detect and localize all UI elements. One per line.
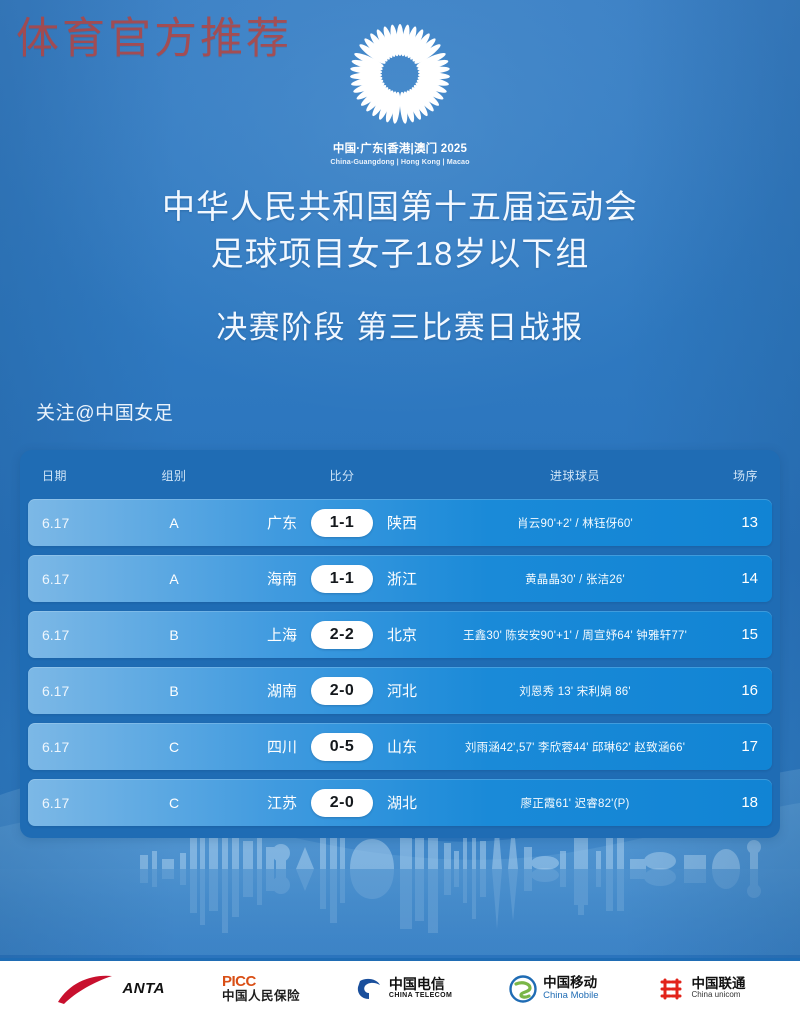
home-team: 江苏 <box>245 792 297 813</box>
away-team: 浙江 <box>387 568 439 589</box>
cell-order: 15 <box>688 626 758 643</box>
sponsor-china-unicom: 中国联通 China unicom <box>656 975 746 1003</box>
score-pill: 1-1 <box>311 565 373 593</box>
cell-group: A <box>126 515 222 531</box>
home-team: 广东 <box>245 512 297 533</box>
column-header-group: 组别 <box>126 467 222 484</box>
cell-date: 6.17 <box>42 627 126 643</box>
table-row: 6.17A广东1-1陕西肖云90'+2' / 林钰伢60'13 <box>28 499 772 546</box>
cell-scorers: 王鑫30' 陈安安90'+1' / 周宣妤64' 钟雅轩77' <box>462 627 688 643</box>
away-team: 山东 <box>387 736 439 757</box>
sponsor-telecom-sub: CHINA TELECOM <box>389 992 452 1000</box>
column-header-scorers: 进球球员 <box>462 467 688 484</box>
away-team: 陕西 <box>387 512 439 533</box>
away-team: 河北 <box>387 680 439 701</box>
home-team: 四川 <box>245 736 297 757</box>
cell-scorers: 刘恩秀 13' 宋利娟 86' <box>462 683 688 699</box>
score-pill: 0-5 <box>311 733 373 761</box>
score-pill: 2-0 <box>311 789 373 817</box>
cell-score: 广东1-1陕西 <box>222 509 462 537</box>
sponsor-telecom-label: 中国电信 <box>389 977 452 992</box>
cell-date: 6.17 <box>42 571 126 587</box>
event-logo: 中国·广东|香港|澳门 2025 China-Guangdong | Hong … <box>0 22 800 166</box>
cell-score: 江苏2-0湖北 <box>222 789 462 817</box>
cell-score: 海南1-1浙江 <box>222 565 462 593</box>
logo-title-en: China-Guangdong | Hong Kong | Macao <box>330 157 469 166</box>
home-team: 湖南 <box>245 680 297 701</box>
cell-group: B <box>126 627 222 643</box>
table-row: 6.17B湖南2-0河北刘恩秀 13' 宋利娟 86'16 <box>28 667 772 714</box>
cell-scorers: 黄晶晶30' / 张洁26' <box>462 571 688 587</box>
cell-score: 四川0-5山东 <box>222 733 462 761</box>
title-subtitle: 决赛阶段 第三比赛日战报 <box>0 302 800 347</box>
cell-group: A <box>126 571 222 587</box>
cell-order: 17 <box>688 738 758 755</box>
title-line-2: 足球项目女子18岁以下组 <box>0 231 800 278</box>
home-team: 上海 <box>245 624 297 645</box>
cell-date: 6.17 <box>42 515 126 531</box>
column-header-date: 日期 <box>42 467 126 484</box>
cell-order: 18 <box>688 794 758 811</box>
table-body: 6.17A广东1-1陕西肖云90'+2' / 林钰伢60'136.17A海南1-… <box>28 499 772 826</box>
score-pill: 2-0 <box>311 677 373 705</box>
sponsor-anta: ANTA <box>54 972 165 1006</box>
cell-group: B <box>126 683 222 699</box>
follow-handle: 关注@中国女足 <box>36 398 174 425</box>
sponsor-footer: ANTA PICC 中国人民保险 中国电信 CHINA TELECOM 中国移动… <box>0 958 800 1016</box>
sponsor-china-mobile: 中国移动 China Mobile <box>509 975 598 1003</box>
sponsor-china-telecom: 中国电信 CHINA TELECOM <box>357 975 452 1003</box>
china-telecom-icon <box>357 975 383 1003</box>
cell-order: 16 <box>688 682 758 699</box>
away-team: 湖北 <box>387 792 439 813</box>
away-team: 北京 <box>387 624 439 645</box>
sponsor-picc-label: 中国人民保险 <box>222 990 300 1004</box>
cell-order: 13 <box>688 514 758 531</box>
table-header-row: 日期 组别 比分 进球球员 场序 <box>28 460 772 490</box>
title-line-1: 中华人民共和国第十五届运动会 <box>0 184 800 231</box>
cell-score: 湖南2-0河北 <box>222 677 462 705</box>
china-mobile-icon <box>509 975 537 1003</box>
table-row: 6.17C四川0-5山东刘雨涵42',57' 李欣蓉44' 邱琳62' 赵致涵6… <box>28 723 772 770</box>
cell-scorers: 廖正霞61' 迟睿82'(P) <box>462 795 688 811</box>
table-row: 6.17C江苏2-0湖北廖正霞61' 迟睿82'(P)18 <box>28 779 772 826</box>
sponsor-mobile-sub: China Mobile <box>543 991 598 1001</box>
anta-swoosh-icon <box>54 972 116 1006</box>
sponsor-picc: PICC 中国人民保险 <box>222 974 300 1004</box>
sponsor-unicom-label: 中国联通 <box>692 977 746 992</box>
sponsor-anta-label: ANTA <box>122 980 165 997</box>
sponsor-mobile-label: 中国移动 <box>543 976 598 991</box>
table-row: 6.17A海南1-1浙江黄晶晶30' / 张洁26'14 <box>28 555 772 602</box>
games-burst-emblem-icon <box>336 22 464 134</box>
logo-title-cn: 中国·广东|香港|澳门 2025 <box>333 140 467 156</box>
cell-date: 6.17 <box>42 739 126 755</box>
score-pill: 1-1 <box>311 509 373 537</box>
results-table: 日期 组别 比分 进球球员 场序 6.17A广东1-1陕西肖云90'+2' / … <box>20 450 780 838</box>
cell-group: C <box>126 795 222 811</box>
table-row: 6.17B上海2-2北京王鑫30' 陈安安90'+1' / 周宣妤64' 钟雅轩… <box>28 611 772 658</box>
title-block: 中华人民共和国第十五届运动会 足球项目女子18岁以下组 决赛阶段 第三比赛日战报 <box>0 184 800 347</box>
cell-date: 6.17 <box>42 683 126 699</box>
cell-score: 上海2-2北京 <box>222 621 462 649</box>
china-unicom-icon <box>656 975 686 1003</box>
cell-date: 6.17 <box>42 795 126 811</box>
cell-scorers: 刘雨涵42',57' 李欣蓉44' 邱琳62' 赵致涵66' <box>462 739 688 755</box>
column-header-score: 比分 <box>222 467 462 484</box>
sponsor-unicom-sub: China unicom <box>692 991 746 1000</box>
cell-scorers: 肖云90'+2' / 林钰伢60' <box>462 515 688 531</box>
score-pill: 2-2 <box>311 621 373 649</box>
cell-group: C <box>126 739 222 755</box>
home-team: 海南 <box>245 568 297 589</box>
picc-logo-icon: PICC <box>222 974 300 990</box>
column-header-order: 场序 <box>688 467 758 484</box>
cell-order: 14 <box>688 570 758 587</box>
